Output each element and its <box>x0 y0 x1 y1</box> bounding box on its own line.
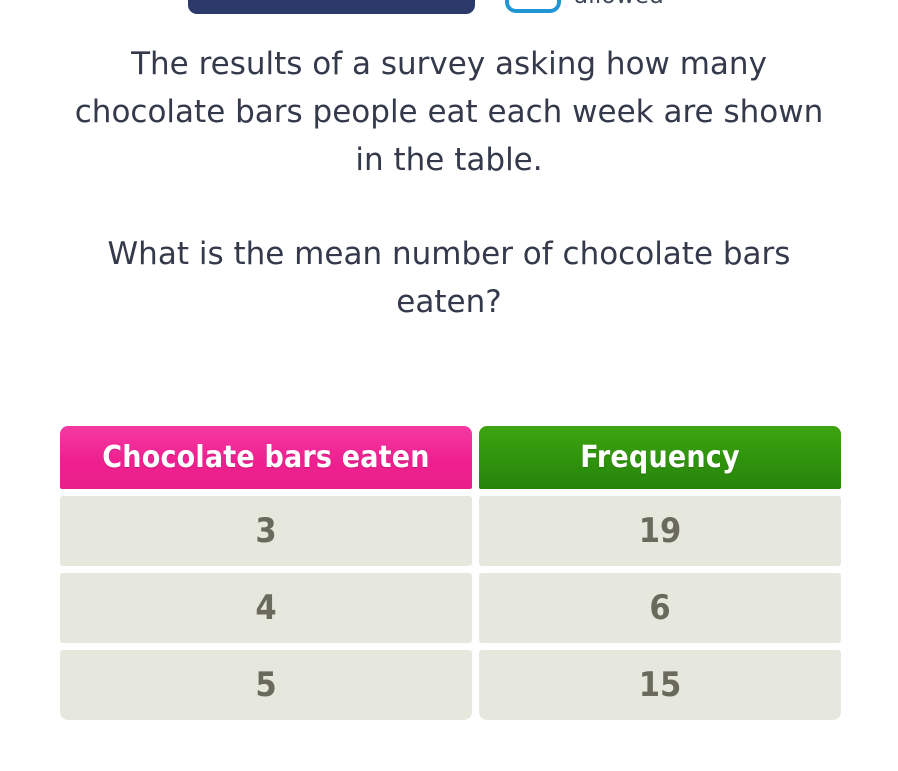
secondary-outline-button[interactable] <box>505 0 561 13</box>
table-header-frequency: Frequency <box>479 426 841 489</box>
question-prompt-line-2: eaten? <box>0 278 898 326</box>
question-block: The results of a survey asking how many … <box>0 40 898 326</box>
frequency-table: Chocolate bars eaten 3 4 5 Frequency 19 … <box>60 426 841 720</box>
table-column-frequency: Frequency 19 6 15 <box>479 426 841 720</box>
primary-action-button[interactable] <box>188 0 475 14</box>
top-chrome-strip: allowed <box>0 0 898 22</box>
table-row: 3 <box>60 496 472 566</box>
question-context-line-3: in the table. <box>0 136 898 184</box>
table-column-category: Chocolate bars eaten 3 4 5 <box>60 426 472 720</box>
table-row: 19 <box>479 496 841 566</box>
question-context-line-1: The results of a survey asking how many <box>0 40 898 88</box>
question-context-line-2: chocolate bars people eat each week are … <box>0 88 898 136</box>
table-row: 6 <box>479 573 841 643</box>
table-row: 15 <box>479 650 841 720</box>
question-prompt-line-1: What is the mean number of chocolate bar… <box>0 230 898 278</box>
allowed-label: allowed <box>574 0 664 9</box>
table-row: 5 <box>60 650 472 720</box>
table-header-category: Chocolate bars eaten <box>60 426 472 489</box>
table-row: 4 <box>60 573 472 643</box>
